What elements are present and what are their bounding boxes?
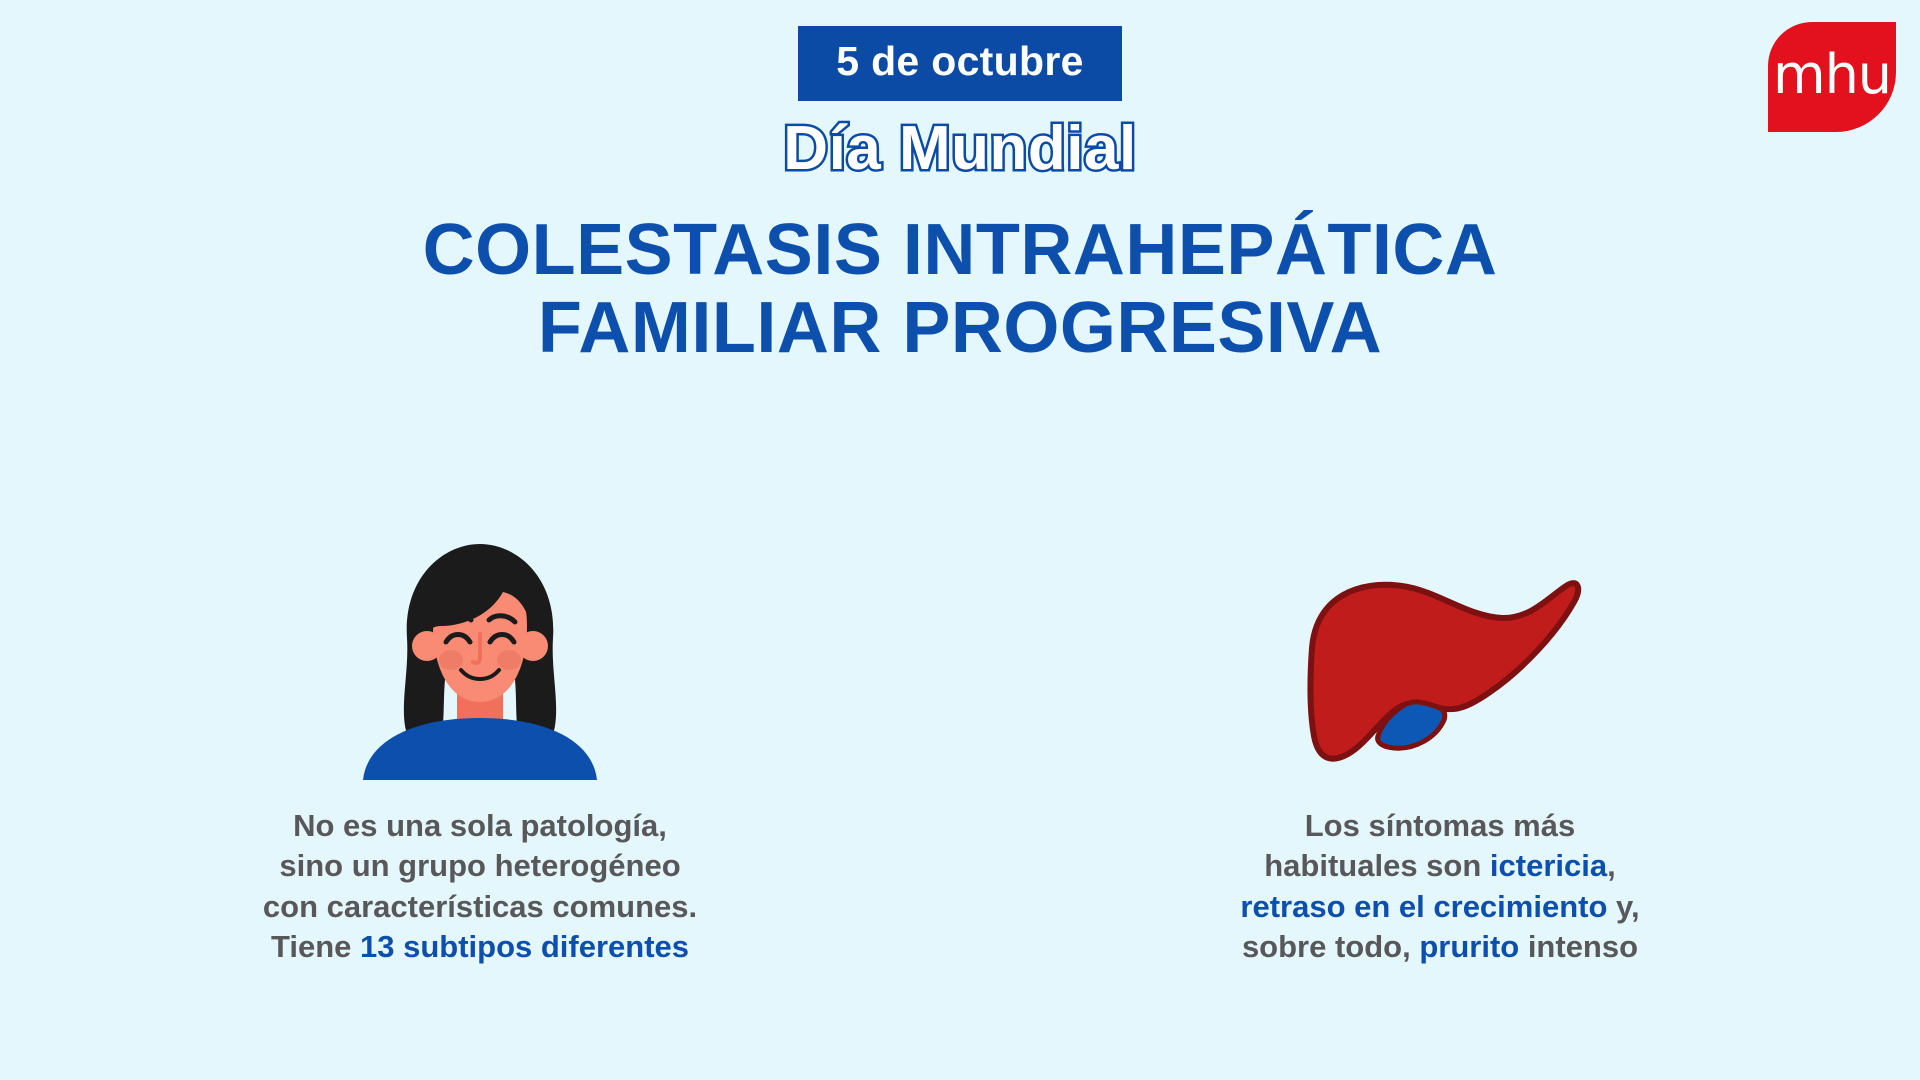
caption-highlight: 13 subtipos diferentes (360, 929, 689, 964)
caption-line: sino un grupo heterogéneo (263, 846, 697, 886)
symptoms-caption: Los síntomas máshabituales son ictericia… (1240, 806, 1639, 967)
woman-avatar-illustration (345, 530, 615, 780)
caption-line: habituales son ictericia, (1240, 846, 1639, 886)
caption-line: Tiene 13 subtipos diferentes (263, 927, 697, 967)
page-title-line-2: FAMILIAR PROGRESIVA (0, 290, 1920, 368)
caption-line: con características comunes. (263, 887, 697, 927)
caption-line: Los síntomas más (1240, 806, 1639, 846)
caption-line: retraso en el crecimiento y, (1240, 887, 1639, 927)
definition-caption: No es una sola patología,sino un grupo h… (263, 806, 697, 967)
date-badge: 5 de octubre (798, 26, 1121, 101)
symptoms-illustration-area (1290, 530, 1590, 780)
definition-illustration-area (345, 530, 615, 780)
caption-line: sobre todo, prurito intenso (1240, 927, 1639, 967)
caption-line: No es una sola patología, (263, 806, 697, 846)
caption-highlight: ictericia (1490, 848, 1607, 883)
liver-organ-illustration (1290, 530, 1590, 780)
header: 5 de octubre Día Mundial COLESTASIS INTR… (0, 0, 1920, 368)
subtitle-dia-mundial: Día Mundial (0, 113, 1920, 184)
caption-highlight: retraso en el crecimiento (1240, 889, 1607, 924)
caption-highlight: prurito (1419, 929, 1519, 964)
page-title: COLESTASIS INTRAHEPÁTICA FAMILIAR PROGRE… (0, 212, 1920, 368)
panel-symptoms: Los síntomas máshabituales son ictericia… (960, 530, 1920, 967)
content-panels: No es una sola patología,sino un grupo h… (0, 530, 1920, 967)
page-title-line-1: COLESTASIS INTRAHEPÁTICA (0, 212, 1920, 290)
panel-definition: No es una sola patología,sino un grupo h… (0, 530, 960, 967)
